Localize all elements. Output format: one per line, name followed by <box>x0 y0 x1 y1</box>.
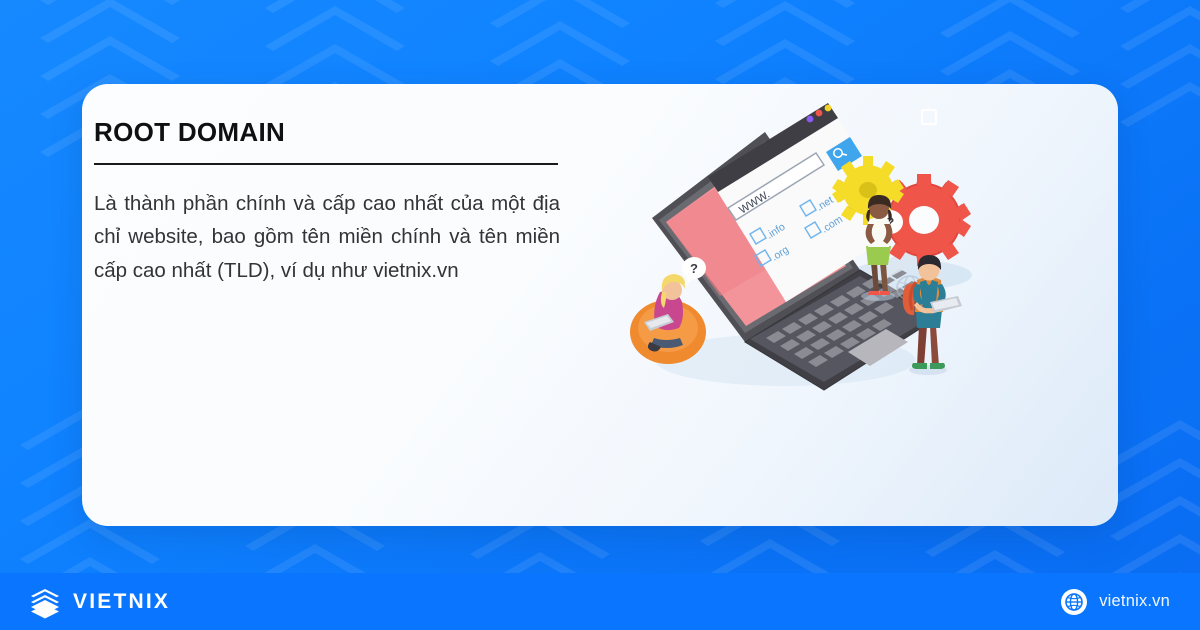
page-title: ROOT DOMAIN <box>94 118 560 147</box>
brand-logo[interactable]: VIETNIX <box>28 585 170 619</box>
title-divider <box>94 163 558 166</box>
footer-bar: VIETNIX vietnix.vn <box>0 573 1200 630</box>
window-dot-purple <box>807 116 814 123</box>
window-dot-red <box>816 110 823 117</box>
person-beanbag-laptop: ? <box>630 257 706 364</box>
svg-text:?: ? <box>690 261 698 276</box>
site-link[interactable]: vietnix.vn <box>1061 589 1170 615</box>
window-dot-yellow <box>825 105 832 112</box>
square-outline-icon <box>922 110 936 124</box>
globe-icon <box>1061 589 1087 615</box>
stacked-layers-icon <box>28 585 62 619</box>
site-name: vietnix.vn <box>1099 592 1170 611</box>
body-paragraph: Là thành phần chính và cấp cao nhất của … <box>94 187 560 287</box>
brand-name: VIETNIX <box>73 590 170 614</box>
illustration: WWW. .info .org .net .com <box>610 70 1010 410</box>
text-block: ROOT DOMAIN Là thành phần chính và cấp c… <box>94 118 560 287</box>
